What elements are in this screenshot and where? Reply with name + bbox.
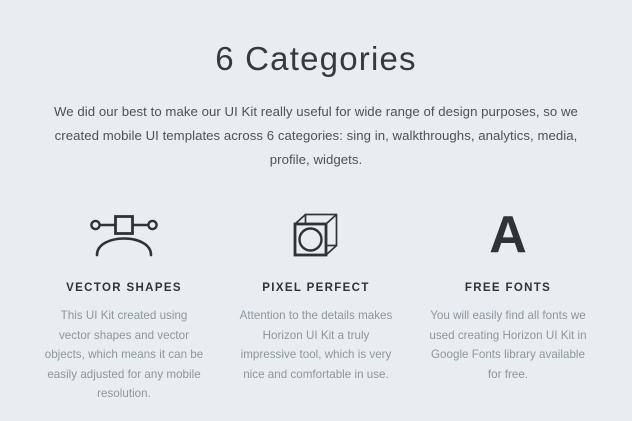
feature-description: This UI Kit created using vector shapes … xyxy=(44,306,204,404)
cube-circle-icon xyxy=(290,207,342,263)
feature-title: PIXEL PERFECT xyxy=(262,281,369,295)
letter-a-glyph: A xyxy=(489,212,527,258)
feature-title: VECTOR SHAPES xyxy=(66,281,182,295)
feature-title: FREE FONTS xyxy=(465,281,551,295)
section-intro-text: We did our best to make our UI Kit reall… xyxy=(46,100,586,172)
categories-section: 6 Categories We did our best to make our… xyxy=(0,0,632,421)
feature-pixel-perfect: PIXEL PERFECT Attention to the details m… xyxy=(220,207,412,384)
feature-description: Attention to the details makes Horizon U… xyxy=(236,306,396,384)
letter-a-icon: A xyxy=(489,207,527,263)
bezier-curve-icon xyxy=(85,207,163,263)
feature-free-fonts: A FREE FONTS You will easily find all fo… xyxy=(412,207,604,384)
feature-vector-shapes: VECTOR SHAPES This UI Kit created using … xyxy=(28,207,220,404)
feature-description: You will easily find all fonts we used c… xyxy=(428,306,588,384)
features-row: VECTOR SHAPES This UI Kit created using … xyxy=(0,207,632,404)
page-title: 6 Categories xyxy=(0,38,632,80)
